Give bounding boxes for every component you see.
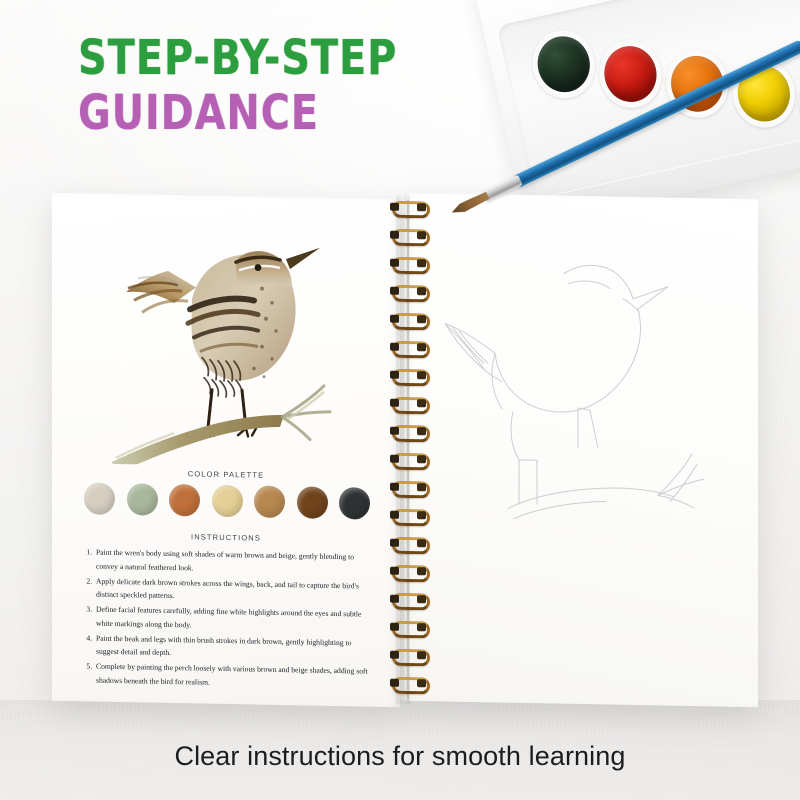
left-page-content: COLOR PALETTE INSTRUCTIONS Paint the wre…: [52, 193, 400, 707]
spiral-coil: [388, 340, 428, 357]
swatch-charcoal-black[interactable]: [339, 487, 370, 520]
spiral-coil: [388, 452, 428, 469]
spiral-coil: [388, 256, 428, 273]
color-palette-swatches: [84, 481, 370, 520]
spiral-coil: [388, 620, 428, 637]
swatch-pale-sand[interactable]: [212, 485, 243, 518]
spiral-coil: [388, 592, 428, 609]
spiral-coil: [388, 508, 428, 525]
heading-line-1: STEP-BY-STEP: [78, 36, 397, 81]
promo-heading: STEP-BY-STEP GUIDANCE: [78, 36, 407, 128]
spiral-coil: [388, 676, 428, 693]
spiral-coil: [388, 284, 428, 301]
swatch-dark-brown[interactable]: [297, 486, 328, 519]
instruction-step: Apply delicate dark brown strokes across…: [94, 574, 376, 606]
instructions-heading: INSTRUCTIONS: [52, 530, 400, 545]
instruction-step: Paint the wren's body using soft shades …: [94, 546, 376, 578]
swatch-warm-tan[interactable]: [254, 486, 285, 519]
spiral-coil: [388, 536, 428, 553]
instruction-step: Define facial features carefully, adding…: [94, 603, 376, 635]
swatch-sage-green[interactable]: [127, 483, 158, 516]
spiral-wire-binding: [388, 200, 428, 701]
spiral-coil: [388, 564, 428, 581]
instruction-step: Paint the beak and legs with thin brush …: [94, 631, 376, 663]
swatch-light-beige[interactable]: [84, 482, 115, 515]
right-page-content: [404, 193, 758, 707]
spiral-coil: [388, 424, 428, 441]
instructions-block: Paint the wren's body using soft shades …: [76, 545, 376, 693]
swatch-terracotta[interactable]: [169, 484, 200, 517]
sketchbook: COLOR PALETTE INSTRUCTIONS Paint the wre…: [52, 196, 758, 704]
spiral-coil: [388, 312, 428, 329]
promo-caption: Clear instructions for smooth learning: [0, 741, 800, 772]
promo-image: COLOR PALETTE INSTRUCTIONS Paint the wre…: [0, 0, 800, 800]
spiral-coil: [388, 396, 428, 413]
spiral-coil: [388, 200, 428, 217]
spiral-coil: [388, 480, 428, 497]
wren-pencil-outline-sketch: [418, 229, 748, 565]
instruction-step: Complete by painting the perch loosely w…: [94, 660, 376, 692]
wren-watercolor-painting: [76, 215, 354, 468]
spiral-coil: [388, 648, 428, 665]
spiral-coil: [388, 368, 428, 385]
heading-line-2: GUIDANCE: [78, 91, 397, 136]
color-palette-heading: COLOR PALETTE: [52, 467, 400, 482]
spiral-coil: [388, 228, 428, 245]
